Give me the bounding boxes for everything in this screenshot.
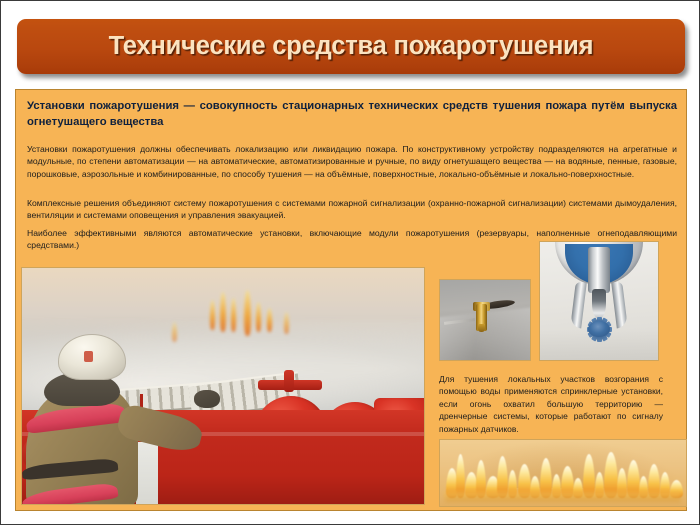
page-title: Технические средства пожаротушения <box>109 32 594 61</box>
chrome-sprinkler-photo <box>539 241 659 361</box>
firefighter-glove <box>194 390 220 408</box>
sprinkler-caption-text: Для тушения локальных участков возгорани… <box>439 373 663 435</box>
slide-title-banner: Технические средства пожаротушения <box>17 19 685 74</box>
lead-box: Установки пожаротушения — совокупность с… <box>27 99 677 130</box>
sprinkler-neck <box>588 247 610 293</box>
body-paragraph-1: Установки пожаротушения должны обеспечив… <box>27 143 677 180</box>
flames-base-glow <box>445 492 681 502</box>
photo-shadow <box>540 329 658 360</box>
truck-stripe <box>136 442 158 504</box>
slide: Технические средства пожаротушения Устан… <box>0 0 700 525</box>
sprinkler-plunger <box>592 289 606 319</box>
reel-handle <box>284 370 294 392</box>
sprinkler-tip <box>478 324 485 332</box>
firefighter-truck-photo <box>21 267 425 505</box>
helmet-badge <box>84 351 93 362</box>
brass-sprinkler-photo <box>439 279 531 361</box>
firefighter-helmet <box>58 334 126 380</box>
body-paragraph-2: Комплексные решения объединяют систему п… <box>27 197 677 222</box>
lead-definition-text: Установки пожаротушения — совокупность с… <box>27 99 677 130</box>
flames-photo <box>439 439 687 507</box>
